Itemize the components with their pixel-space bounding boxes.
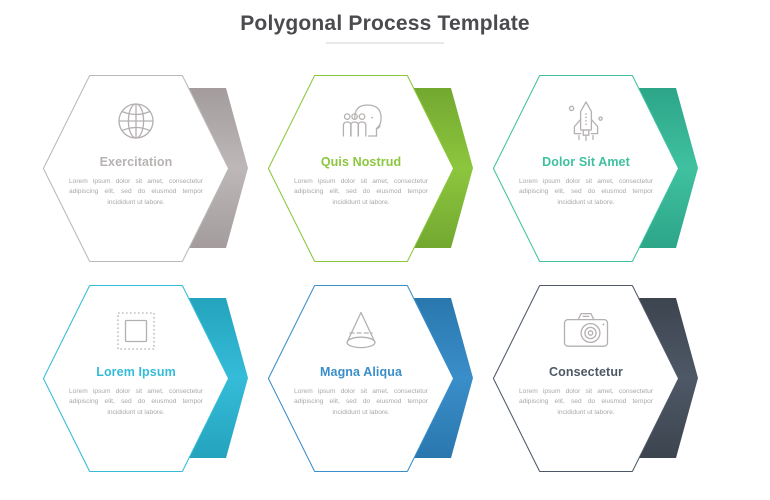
page-title: Polygonal Process Template — [240, 12, 530, 44]
card-title: Magna Aliqua — [320, 366, 402, 380]
card-title: Dolor Sit Amet — [542, 156, 630, 170]
card-content: Lorem IpsumLorem ipsum dolor sit amet, c… — [36, 272, 236, 485]
card-body-text: Lorem ipsum dolor sit amet, consectetur … — [519, 177, 653, 209]
card-body-text: Lorem ipsum dolor sit amet, consectetur … — [69, 177, 203, 209]
camera-icon — [560, 306, 612, 356]
card-body-text: Lorem ipsum dolor sit amet, consectetur … — [294, 387, 428, 419]
head-people-icon — [336, 96, 386, 146]
card-content: Dolor Sit AmetLorem ipsum dolor sit amet… — [486, 62, 686, 275]
card-content: Magna AliquaLorem ipsum dolor sit amet, … — [261, 272, 461, 485]
globe-icon — [113, 96, 159, 146]
card-body-text: Lorem ipsum dolor sit amet, consectetur … — [519, 387, 653, 419]
process-step-card[interactable]: 3Dolor Sit AmetLorem ipsum dolor sit ame… — [486, 62, 742, 275]
card-title: Consectetur — [549, 366, 623, 380]
card-title: Quis Nostrud — [321, 156, 401, 170]
card-title: Lorem Ipsum — [96, 366, 176, 380]
process-step-card[interactable]: 6ConsecteturLorem ipsum dolor sit amet, … — [486, 272, 742, 485]
title-underline-rule — [326, 42, 444, 44]
cone-icon — [337, 306, 385, 356]
process-step-card[interactable]: 4Lorem IpsumLorem ipsum dolor sit amet, … — [36, 272, 292, 485]
card-content: Quis NostrudLorem ipsum dolor sit amet, … — [261, 62, 461, 275]
page-title-container: Polygonal Process Template — [0, 12, 770, 44]
process-step-card[interactable]: 1ExercitationLorem ipsum dolor sit amet,… — [36, 62, 292, 275]
card-content: ConsecteturLorem ipsum dolor sit amet, c… — [486, 272, 686, 485]
card-body-text: Lorem ipsum dolor sit amet, consectetur … — [69, 387, 203, 419]
process-step-card[interactable]: 2Quis NostrudLorem ipsum dolor sit amet,… — [261, 62, 517, 275]
card-title: Exercitation — [100, 156, 173, 170]
process-step-card[interactable]: 5Magna AliquaLorem ipsum dolor sit amet,… — [261, 272, 517, 485]
dashed-square-icon — [111, 306, 161, 356]
infographic-page: Polygonal Process Template 1Exercitation… — [0, 0, 770, 500]
rocket-icon — [562, 96, 610, 146]
card-body-text: Lorem ipsum dolor sit amet, consectetur … — [294, 177, 428, 209]
card-content: ExercitationLorem ipsum dolor sit amet, … — [36, 62, 236, 275]
process-step-grid: 1ExercitationLorem ipsum dolor sit amet,… — [0, 62, 770, 492]
